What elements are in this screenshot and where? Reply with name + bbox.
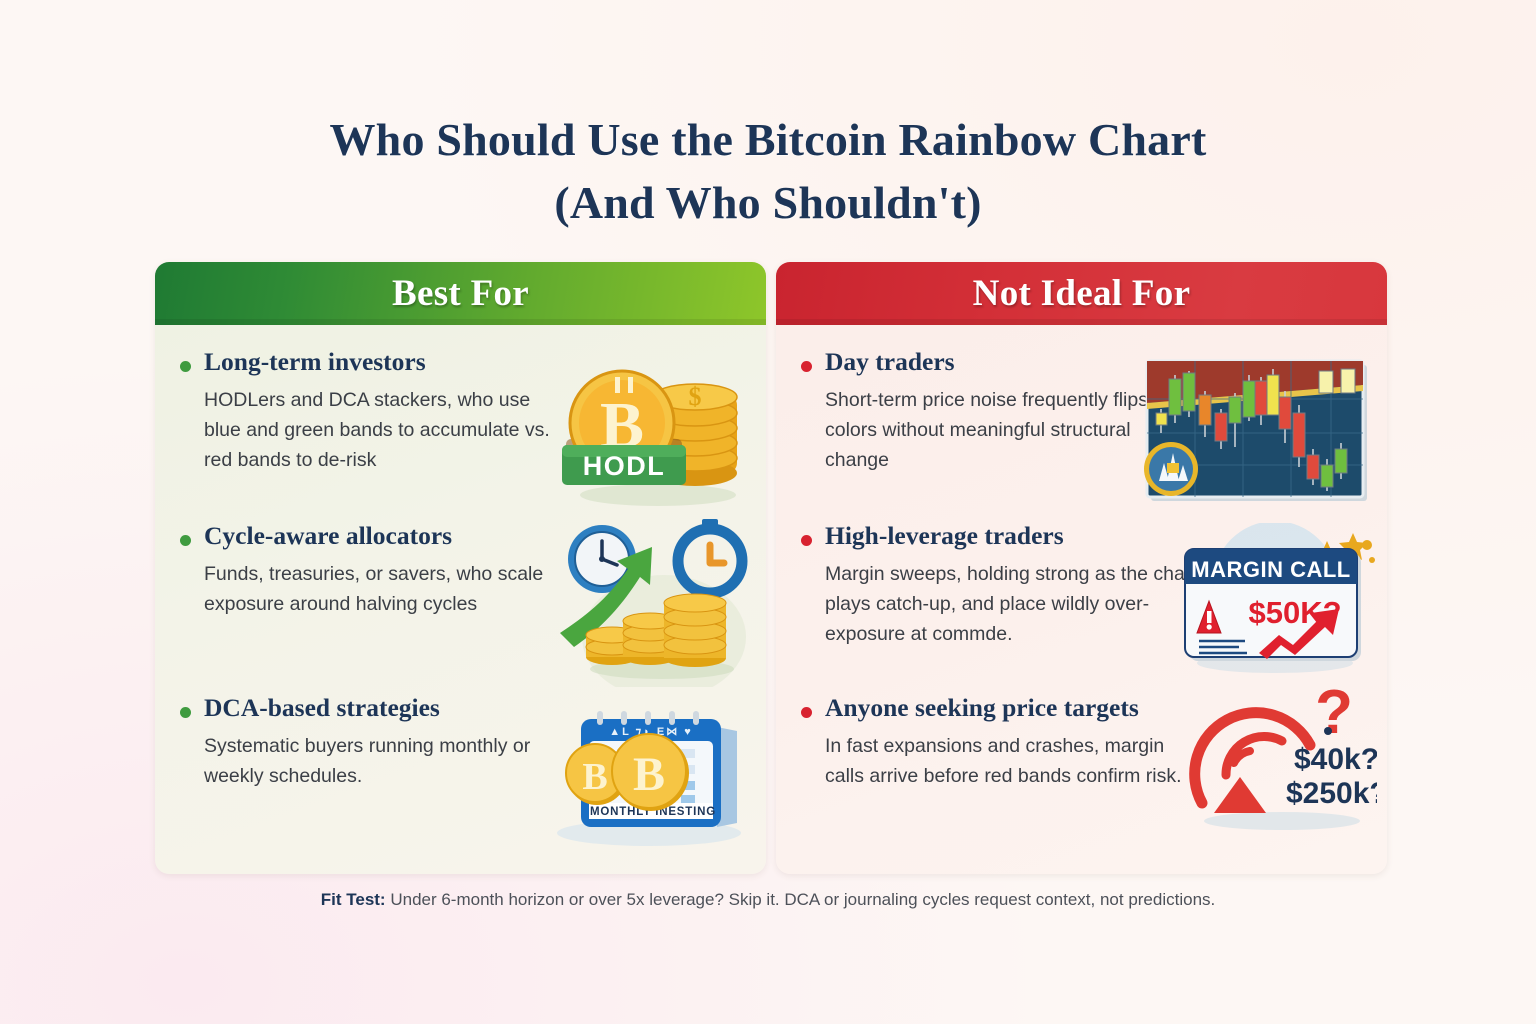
- calendar-label: MONTHLY INESTING: [590, 806, 716, 818]
- list-item: Day traders Short-term price noise frequ…: [796, 347, 1367, 521]
- bullet-icon: [180, 535, 191, 546]
- title-line-1: Who Should Use the Bitcoin Rainbow Chart: [0, 108, 1536, 171]
- panel-body-not-ideal-for: Day traders Short-term price noise frequ…: [776, 325, 1387, 874]
- title-line-2: (And Who Shouldn't): [0, 171, 1536, 234]
- item-heading: Cycle-aware allocators: [204, 521, 746, 552]
- panel-header-not-ideal-for: Not Ideal For: [776, 262, 1387, 325]
- list-item: High-leverage traders Margin sweeps, hol…: [796, 521, 1367, 693]
- item-description: Margin sweeps, holding strong as the cha…: [825, 559, 1200, 650]
- footer-label: Fit Test:: [321, 890, 386, 909]
- panel-header-label: Not Ideal For: [973, 272, 1191, 315]
- list-item: DCA-based strategies Systematic buyers r…: [175, 693, 746, 843]
- item-heading: High-leverage traders: [825, 521, 1367, 552]
- item-description: Funds, treasuries, or savers, who scale …: [204, 559, 564, 619]
- panel-not-ideal-for: Not Ideal For Day traders Short-term pri…: [776, 262, 1387, 874]
- item-description: Short-term price noise frequently flips …: [825, 385, 1200, 476]
- list-item: Anyone seeking price targets In fast exp…: [796, 693, 1367, 843]
- panel-header-label: Best For: [392, 272, 529, 315]
- bullet-icon: [180, 707, 191, 718]
- panel-header-best-for: Best For: [155, 262, 766, 325]
- page-title: Who Should Use the Bitcoin Rainbow Chart…: [0, 108, 1536, 235]
- footer-text: Under 6-month horizon or over 5x leverag…: [386, 890, 1216, 909]
- footer-fit-test: Fit Test: Under 6-month horizon or over …: [0, 890, 1536, 910]
- item-description: Systematic buyers running monthly or wee…: [204, 731, 564, 791]
- panel-best-for: Best For Long-term investors HODLers and…: [155, 262, 766, 874]
- list-item: Cycle-aware allocators Funds, treasuries…: [175, 521, 746, 693]
- bullet-icon: [801, 707, 812, 718]
- infographic-page: Who Should Use the Bitcoin Rainbow Chart…: [0, 0, 1536, 1024]
- bullet-icon: [801, 361, 812, 372]
- bullet-icon: [180, 361, 191, 372]
- item-heading: Anyone seeking price targets: [825, 693, 1367, 724]
- comparison-panels: Best For Long-term investors HODLers and…: [155, 262, 1387, 874]
- item-heading: DCA-based strategies: [204, 693, 746, 724]
- list-item: Long-term investors HODLers and DCA stac…: [175, 347, 746, 521]
- panel-body-best-for: Long-term investors HODLers and DCA stac…: [155, 325, 766, 874]
- item-description: HODLers and DCA stackers, who use blue a…: [204, 385, 564, 476]
- bullet-icon: [801, 535, 812, 546]
- item-heading: Day traders: [825, 347, 1367, 378]
- item-heading: Long-term investors: [204, 347, 746, 378]
- item-description: In fast expansions and crashes, margin c…: [825, 731, 1200, 791]
